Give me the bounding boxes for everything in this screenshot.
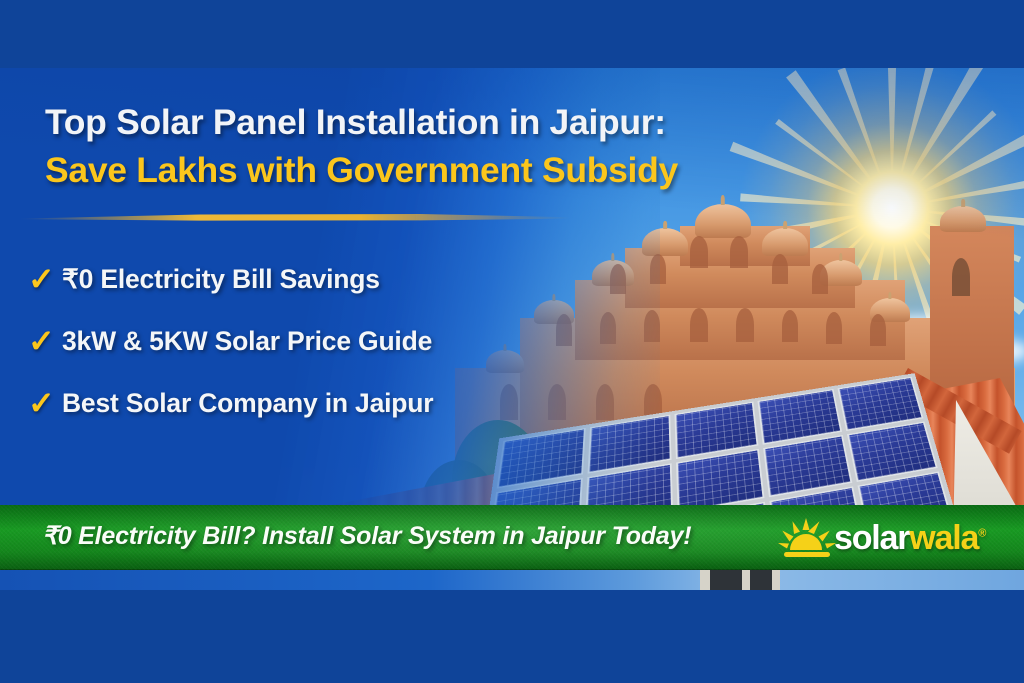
gold-divider bbox=[20, 212, 570, 224]
list-item: ✓ Best Solar Company in Jaipur bbox=[28, 372, 433, 434]
headline-line-2: Save Lakhs with Government Subsidy bbox=[45, 150, 678, 191]
footer-tagline: ₹0 Electricity Bill? Install Solar Syste… bbox=[42, 521, 691, 551]
benefit-list: ✓ ₹0 Electricity Bill Savings ✓ 3kW & 5K… bbox=[28, 248, 433, 434]
solarwala-logo[interactable]: solarwala® bbox=[778, 513, 985, 563]
registered-mark-icon: ® bbox=[978, 528, 985, 540]
checkmark-icon: ✓ bbox=[28, 387, 62, 419]
logo-text-secondary: wala bbox=[909, 519, 978, 557]
footer-green-bar: ₹0 Electricity Bill? Install Solar Syste… bbox=[0, 505, 1024, 570]
list-item-label: ₹0 Electricity Bill Savings bbox=[62, 264, 380, 295]
sun-icon bbox=[778, 518, 836, 558]
list-item: ✓ ₹0 Electricity Bill Savings bbox=[28, 248, 433, 310]
checkmark-icon: ✓ bbox=[28, 263, 62, 295]
headline-line-1: Top Solar Panel Installation in Jaipur: bbox=[45, 102, 666, 143]
logo-text-primary: solar bbox=[834, 519, 909, 557]
banner-copy: Top Solar Panel Installation in Jaipur: … bbox=[0, 68, 760, 518]
solar-promo-banner: Top Solar Panel Installation in Jaipur: … bbox=[0, 0, 1024, 683]
list-item: ✓ 3kW & 5KW Solar Price Guide bbox=[28, 310, 433, 372]
list-item-label: Best Solar Company in Jaipur bbox=[62, 388, 433, 419]
bottom-photo-strip bbox=[0, 570, 1024, 590]
logo-wordmark: solarwala® bbox=[834, 521, 985, 555]
checkmark-icon: ✓ bbox=[28, 325, 62, 357]
list-item-label: 3kW & 5KW Solar Price Guide bbox=[62, 326, 432, 357]
